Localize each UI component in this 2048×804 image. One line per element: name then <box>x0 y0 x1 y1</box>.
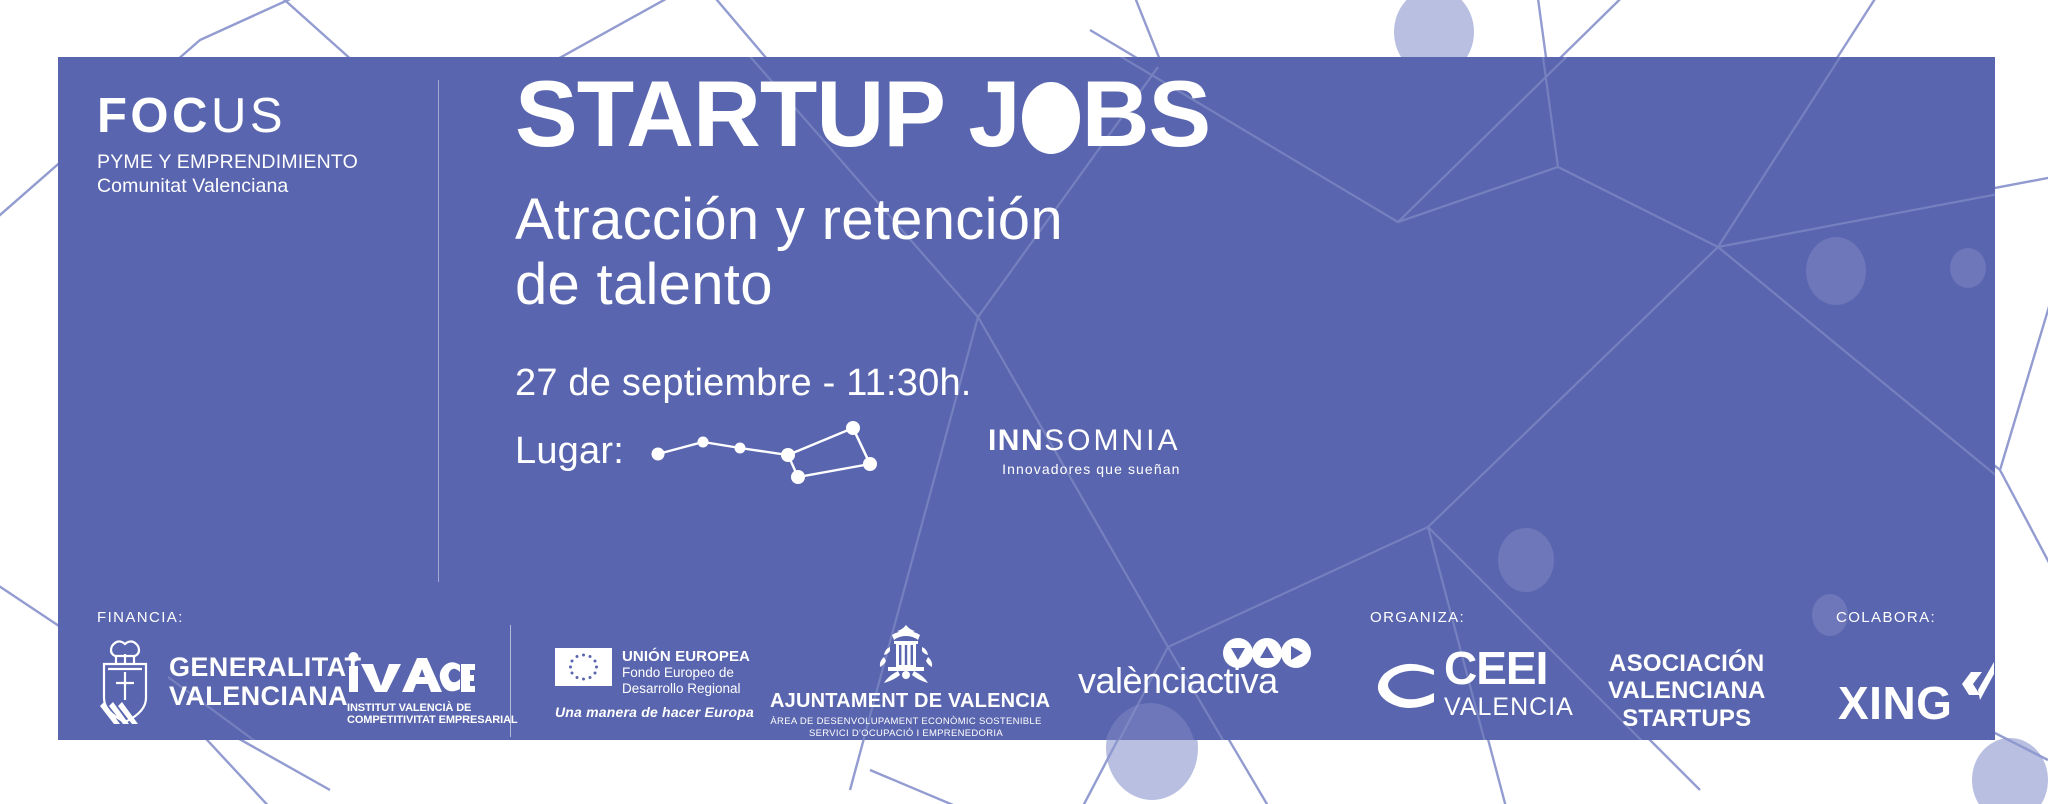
organiza-label: ORGANIZA: <box>1370 609 1465 626</box>
eu-line-2: Fondo Europeo de <box>622 665 750 681</box>
hero-subtitle-line-1: Atracción y retención <box>515 188 1210 253</box>
focus-subtitle-2: Comunitat Valenciana <box>97 175 397 198</box>
xing-mark-icon <box>1958 660 2002 708</box>
focus-subtitle-1: PYME Y EMPRENDIMIENTO <box>97 151 397 174</box>
ivace-subtitle-2: COMPETITIVITAT EMPRESARIAL <box>347 714 518 726</box>
generalitat-line-1: GENERALITAT <box>169 653 361 682</box>
valencia-activa-symbols-icon <box>1223 638 1311 668</box>
venue-label: Lugar: <box>515 430 624 473</box>
ivace-wordmark-icon <box>347 650 475 694</box>
focus-wordmark: FOCUS <box>97 92 397 141</box>
innsomnia-light: SOMNIA <box>1044 424 1180 457</box>
generalitat-name: GENERALITAT VALENCIANA <box>169 653 361 710</box>
vertical-divider <box>438 80 439 582</box>
focus-bold-text: FOC <box>97 89 211 143</box>
generalitat-shield-icon <box>94 636 156 728</box>
page-title: STARTUP JBS <box>515 66 1210 162</box>
ajuntament-valencia-logo: AJUNTAMENT DE VALENCIA ÀREA DE DESENVOLU… <box>770 623 1042 741</box>
union-europea-logo: UNIÓN EUROPEA Fondo Europeo de Desarroll… <box>555 648 754 720</box>
valencia-activa-part1: valènci <box>1078 660 1187 701</box>
generalitat-valenciana-logo: GENERALITAT VALENCIANA <box>94 636 361 728</box>
generalitat-line-2: VALENCIANA <box>169 682 361 711</box>
ceei-ellipse-icon <box>1372 654 1440 716</box>
asociacion-valenciana-startups-logo: ASOCIACIÓN VALENCIANA STARTUPS <box>1608 650 1766 732</box>
event-datetime: 27 de septiembre - 11:30h. <box>515 362 1210 405</box>
innsomnia-text: INNSOMNIA Innovadores que sueñan <box>988 426 1181 477</box>
xing-logo: XING <box>1838 676 2002 730</box>
eu-title: UNIÓN EUROPEA <box>622 648 750 665</box>
constellation-icon <box>648 417 978 487</box>
avs-line-3: STARTUPS <box>1608 705 1766 732</box>
colabora-label: COLABORA: <box>1836 609 1936 626</box>
innsomnia-bold: INN <box>988 424 1044 457</box>
avs-line-1: ASOCIACIÓN <box>1608 650 1766 677</box>
eu-flag-icon <box>555 648 612 686</box>
venue-row: Lugar: <box>515 417 1210 487</box>
ceei-subtitle: VALENCIA <box>1444 693 1574 722</box>
ivace-logo: INSTITUT VALENCIÀ DE COMPETITIVITAT EMPR… <box>347 650 518 727</box>
innsomnia-tagline: Innovadores que sueñan <box>988 461 1181 477</box>
poster-stage: FOCUS PYME Y EMPRENDIMIENTO Comunitat Va… <box>0 0 2048 804</box>
valencia-activa-logo: valènciactiva <box>1078 660 1278 702</box>
ajuntament-subtitle-1: ÀREA DE DESENVOLUPAMENT ECONÒMIC SOSTENI… <box>770 716 1042 728</box>
focus-light-text: US <box>211 89 286 143</box>
financia-label: FINANCIA: <box>97 609 184 626</box>
hero-subtitle: Atracción y retención de talento <box>515 188 1210 318</box>
hero-block: STARTUP JBS Atracción y retención de tal… <box>515 66 1210 487</box>
eu-line-3: Desarrollo Regional <box>622 681 750 697</box>
innsomnia-logo: INNSOMNIA Innovadores que sueñan <box>648 417 1181 487</box>
ivace-subtitle-1: INSTITUT VALENCIÀ DE <box>347 702 518 714</box>
footer-divider <box>510 625 511 737</box>
ajuntament-crest-icon <box>870 623 942 687</box>
eu-slogan: Una manera de hacer Europa <box>555 704 754 720</box>
hero-subtitle-line-2: de talento <box>515 253 1210 318</box>
focus-logo: FOCUS PYME Y EMPRENDIMIENTO Comunitat Va… <box>97 92 397 198</box>
ajuntament-name: AJUNTAMENT DE VALENCIA <box>770 690 1042 713</box>
title-text-part1: STARTUP J <box>515 66 1020 162</box>
ajuntament-subtitle-2: SERVICI D'OCUPACIÓ I EMPRENEDORIA <box>770 728 1042 740</box>
innsomnia-wordmark: INNSOMNIA <box>988 424 1181 457</box>
ceei-name: CEEI <box>1444 648 1574 689</box>
ceei-valencia-logo: CEEI VALENCIA <box>1372 648 1574 722</box>
filled-circle-o-icon <box>1022 82 1080 154</box>
xing-name: XING <box>1838 676 1952 730</box>
title-text-part2: BS <box>1082 66 1211 162</box>
avs-line-2: VALENCIANA <box>1608 677 1766 704</box>
